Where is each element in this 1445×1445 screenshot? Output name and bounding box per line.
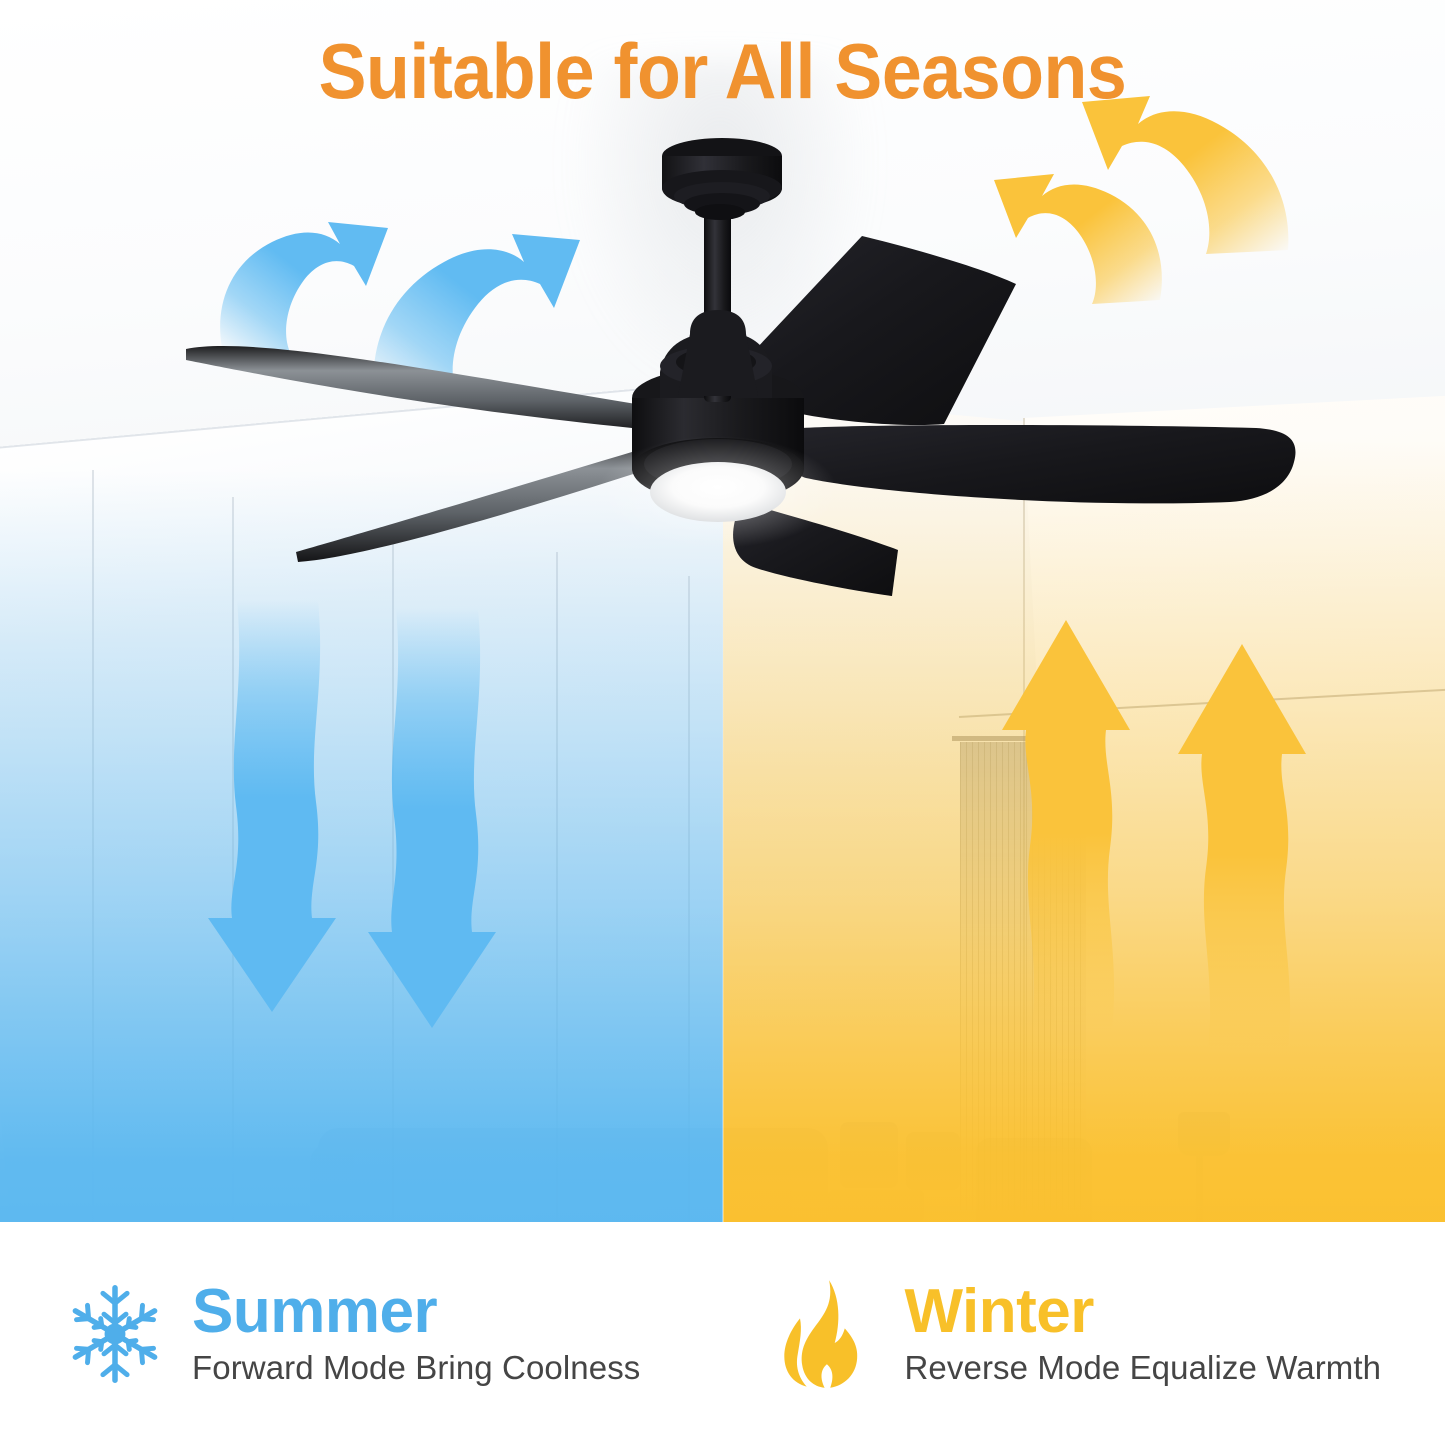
- flame-icon: [769, 1278, 887, 1390]
- legend-item-summer: Summer Forward Mode Bring Coolness: [0, 1279, 723, 1389]
- infographic-page: Suitable for All Seasons: [0, 0, 1445, 1445]
- floor-lamp-shade: [1178, 1112, 1230, 1156]
- legend-item-winter: Winter Reverse Mode Equalize Warmth: [723, 1278, 1445, 1390]
- winter-text-block: Winter Reverse Mode Equalize Warmth: [905, 1280, 1382, 1387]
- page-title: Suitable for All Seasons: [58, 26, 1387, 117]
- season-legend-footer: Summer Forward Mode Bring Coolness Winte…: [0, 1222, 1445, 1445]
- cushion-silhouette: [840, 1122, 898, 1188]
- snowflake-icon: [56, 1279, 174, 1389]
- winter-subheading: Reverse Mode Equalize Warmth: [905, 1349, 1382, 1387]
- summer-subheading: Forward Mode Bring Coolness: [192, 1349, 640, 1387]
- fan-blade-left-upper: [186, 346, 692, 434]
- winter-heading: Winter: [905, 1280, 1382, 1343]
- summer-heading: Summer: [192, 1280, 640, 1343]
- fan-ceiling-canopy: [662, 138, 782, 220]
- summer-text-block: Summer Forward Mode Bring Coolness: [192, 1280, 640, 1387]
- cushion-silhouette: [906, 1132, 960, 1190]
- curtain-rod: [952, 736, 1092, 741]
- fan-blade-right-middle: [789, 425, 1296, 503]
- fan-led-light: [598, 436, 838, 548]
- fan-downrod: [678, 212, 758, 402]
